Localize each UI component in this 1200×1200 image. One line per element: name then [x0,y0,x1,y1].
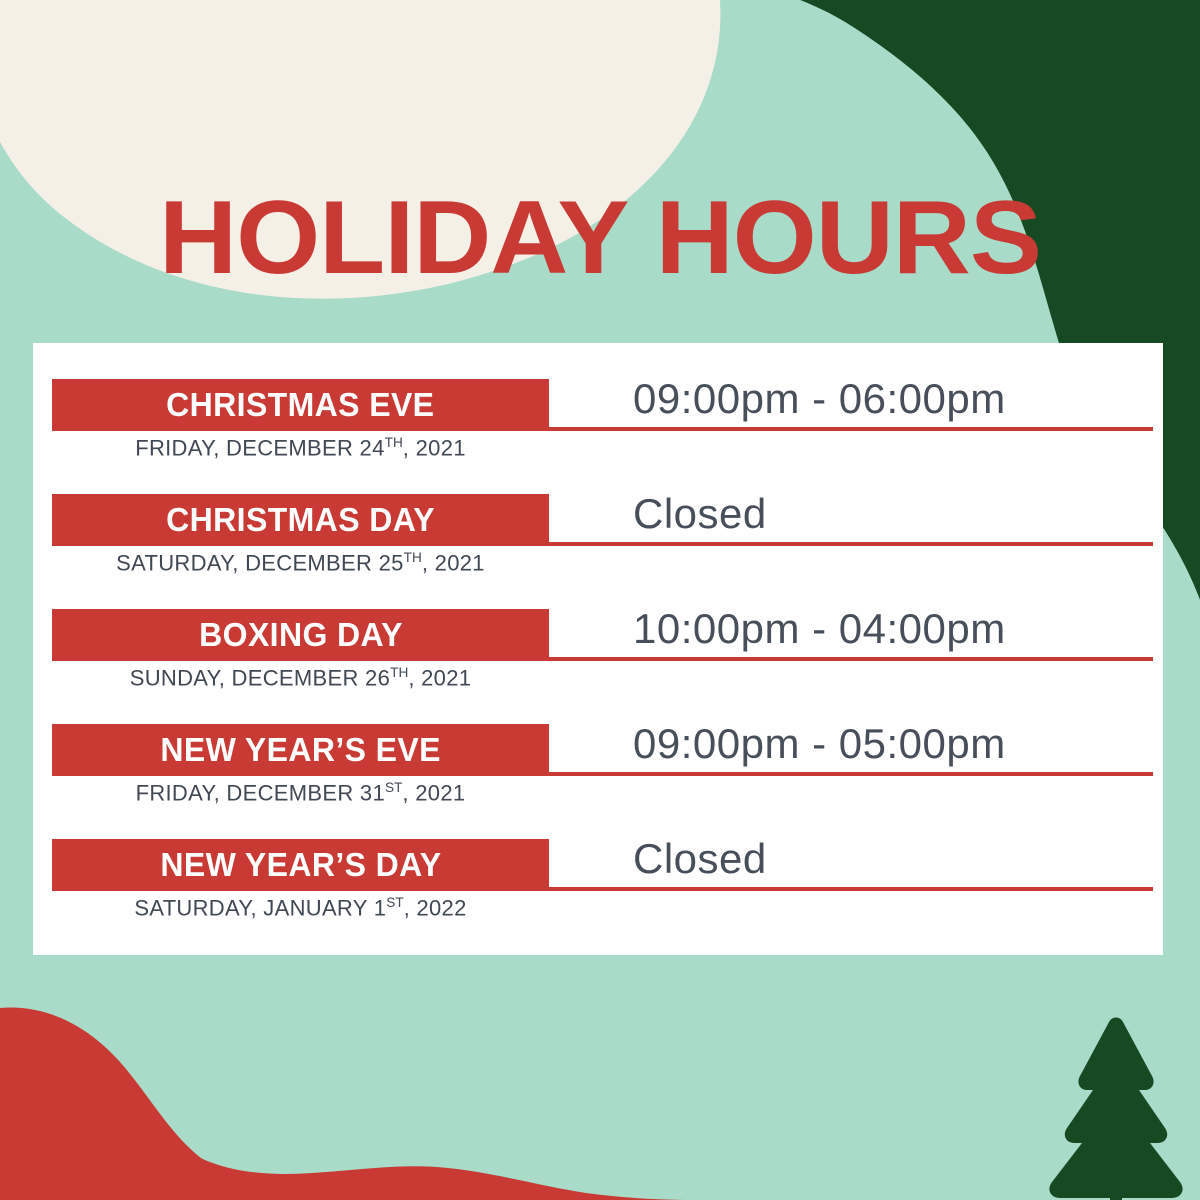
page-title: HOLIDAY HOURS [0,186,1200,290]
holiday-name-label: BOXING DAY [199,616,403,654]
row-underline [549,772,1153,776]
holiday-hours-value: 10:00pm - 04:00pm [633,605,1153,653]
row-underline [549,887,1153,891]
holiday-date-label: SATURDAY, DECEMBER 25TH, 2021 [52,550,549,576]
holiday-date-label: SATURDAY, JANUARY 1ST, 2022 [52,895,549,921]
holiday-name-label: CHRISTMAS DAY [166,501,435,539]
holiday-hours-card: CHRISTMAS EVE FRIDAY, DECEMBER 24TH, 202… [33,343,1163,955]
holiday-name-label: NEW YEAR’S EVE [160,731,441,769]
holiday-hours-value: Closed [633,490,1153,538]
holiday-hours-value: 09:00pm - 05:00pm [633,720,1153,768]
holiday-name-label: CHRISTMAS EVE [166,386,434,424]
holiday-name-bar: CHRISTMAS EVE [52,379,549,431]
row-underline [549,427,1153,431]
row-underline [549,657,1153,661]
holiday-name-label: NEW YEAR’S DAY [160,846,441,884]
holiday-name-bar: CHRISTMAS DAY [52,494,549,546]
holiday-name-bar: BOXING DAY [52,609,549,661]
holiday-date-label: SUNDAY, DECEMBER 26TH, 2021 [52,665,549,691]
holiday-hours-value: 09:00pm - 06:00pm [633,375,1153,423]
holiday-hours-value: Closed [633,835,1153,883]
holiday-date-label: FRIDAY, DECEMBER 24TH, 2021 [52,435,549,461]
row-underline [549,542,1153,546]
holiday-name-bar: NEW YEAR’S EVE [52,724,549,776]
holiday-date-label: FRIDAY, DECEMBER 31ST, 2021 [52,780,549,806]
holiday-name-bar: NEW YEAR’S DAY [52,839,549,891]
